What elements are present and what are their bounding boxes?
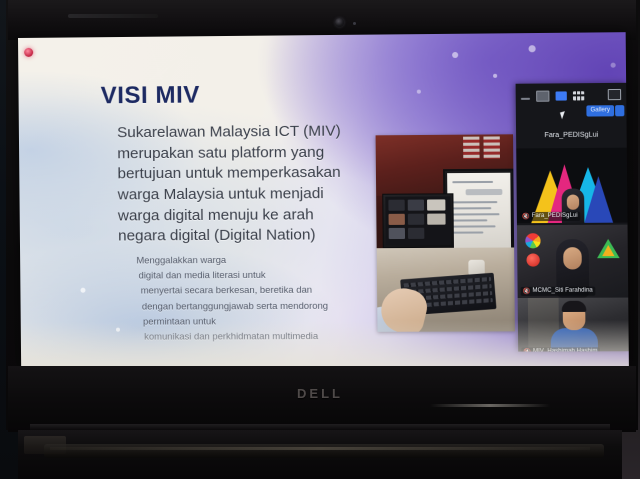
body-line: bertujuan untuk memperkasakan (117, 163, 380, 186)
active-speaker-label: Fara_PEDISgLui (516, 121, 627, 148)
participant-label: 🔇 MIV_Hashimah Hashim (521, 347, 599, 351)
photo-flag (463, 137, 480, 159)
active-speaker-name: Fara_PEDISgLui (544, 131, 598, 138)
participant-name: MCMC_Siti Farahdina (532, 287, 592, 296)
single-view-icon[interactable] (536, 91, 549, 102)
body-line: warga Malaysia untuk menjadi (118, 184, 381, 206)
slide-sub-text: Menggalakkan warga digital dan media lit… (136, 251, 410, 344)
participant-label: 🔇 Fara_PEDISgLui (520, 212, 580, 221)
video-call-toolbar[interactable]: Gallery (516, 83, 627, 122)
body-line: negara digital (Digital Nation) (118, 225, 381, 247)
participant-hair (562, 301, 587, 312)
webcam-led-icon (353, 22, 356, 25)
side-by-side-view-icon[interactable] (556, 91, 567, 100)
minimize-icon[interactable] (521, 97, 530, 99)
mic-muted-icon: 🔇 (522, 213, 530, 221)
brand-logo: DELL (0, 386, 640, 401)
webcam-icon (335, 18, 344, 27)
sub-line: menyertai secara berkesan, beretika dan (137, 282, 410, 298)
power-led-icon (24, 48, 33, 57)
participant-face (567, 195, 579, 210)
photo-laptop-screen (385, 196, 451, 245)
participant-label: 🔇 MCMC_Siti Farahdina (521, 287, 595, 296)
desk-setup-photo (376, 134, 515, 332)
body-line: merupakan satu platform yang (117, 142, 380, 165)
body-line: Sukarelawan Malaysia ICT (MIV) (117, 121, 380, 144)
grid-view-icon[interactable] (573, 91, 584, 100)
participant-face (563, 247, 582, 269)
presentation-slide: VISI MIV Sukarelawan Malaysia ICT (MIV) … (18, 32, 629, 368)
chevron-down-icon[interactable] (615, 105, 624, 116)
org-logo-icon (526, 253, 539, 266)
video-call-panel[interactable]: Gallery Fara_PEDISgLui (516, 83, 629, 352)
gallery-button[interactable]: Gallery (586, 105, 614, 116)
photo-monitor-screen (447, 173, 511, 248)
org-logo-icon (525, 233, 540, 248)
participant-name: MIV_Hashimah Hashim (533, 347, 598, 351)
share-screen-icon[interactable] (608, 89, 621, 100)
laptop-photo: VISI MIV Sukarelawan Malaysia ICT (MIV) … (0, 0, 640, 479)
base-reflection (430, 404, 550, 407)
mouse-cursor-icon (560, 111, 567, 119)
photo-laptop (382, 193, 454, 248)
participant-tile[interactable]: 🔇 Fara_PEDISgLui (516, 148, 627, 224)
laptop-screen: VISI MIV Sukarelawan Malaysia ICT (MIV) … (18, 32, 629, 368)
sub-line: komunikasi dan perkhidmatan multimedia (137, 328, 410, 344)
participant-tile[interactable]: 🔇 MIV_Hashimah Hashim (518, 298, 629, 352)
bezel-vent (68, 14, 158, 18)
participant-tile[interactable]: 🔇 MCMC_Siti Farahdina (517, 225, 628, 298)
mic-muted-icon: 🔇 (523, 287, 531, 295)
sub-line: digital dan media literasi untuk (136, 266, 409, 283)
base-highlight (50, 447, 590, 450)
page-title: VISI MIV (101, 81, 200, 110)
mic-muted-icon: 🔇 (523, 348, 531, 352)
sub-line: Menggalakkan warga (136, 251, 409, 268)
org-logo-icon (602, 245, 614, 256)
body-line: warga digital menuju ke arah (118, 205, 381, 227)
participant-name: Fara_PEDISgLui (532, 212, 578, 221)
slide-body-text: Sukarelawan Malaysia ICT (MIV) merupakan… (117, 121, 381, 247)
sub-line: dengan bertanggungjawab serta mendorong (137, 297, 410, 313)
photo-flag (483, 136, 500, 158)
sub-line: permintaan untuk (137, 312, 410, 328)
